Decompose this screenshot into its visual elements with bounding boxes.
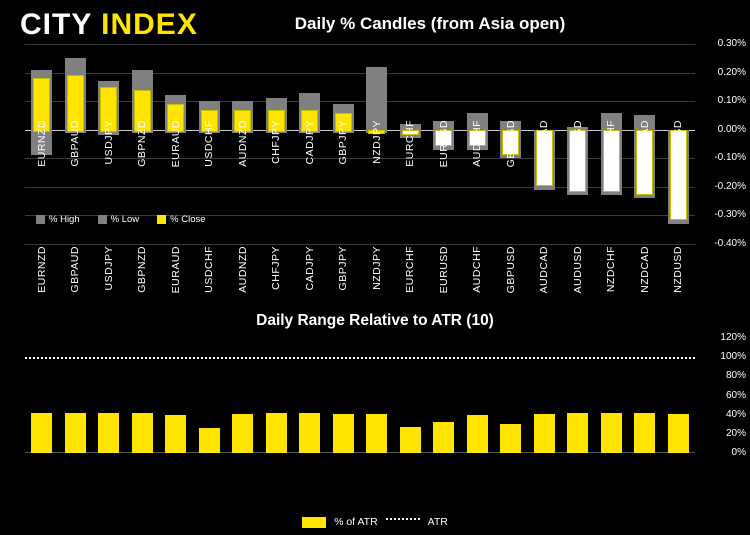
legend-close-swatch-icon: [157, 215, 166, 224]
chart1-category-label: AUDNZD: [237, 246, 249, 293]
chart2-category-label: AUDCHF: [471, 120, 483, 167]
chart2-atr-bar: [266, 413, 287, 453]
chart1-category-label: EURCHF: [404, 246, 416, 293]
chart1-category-label: GBPUSD: [505, 246, 517, 293]
chart2-atr-bar: [366, 414, 387, 453]
chart2-category-label: NZDJPY: [371, 120, 383, 164]
chart2-y-tick-label: 120%: [691, 332, 746, 343]
chart2-atr-bar: [299, 413, 320, 453]
legend-atr-line-icon: [386, 518, 420, 520]
chart1-category-label: NZDJPY: [371, 246, 383, 290]
chart2: [0, 338, 750, 468]
chart2-atr-bar: [400, 427, 421, 453]
chart1-category-label: GBPJPY: [337, 246, 349, 290]
chart1-category-label: AUDCHF: [471, 246, 483, 293]
chart1-y-tick-label: 0.10%: [691, 95, 746, 106]
chart2-category-label: USDJPY: [103, 120, 115, 164]
legend-high-label: % High: [49, 214, 80, 225]
chart1-category-label: AUDCAD: [538, 246, 550, 293]
chart2-category-label: AUDCAD: [538, 120, 550, 167]
chart2-atr-bar: [232, 414, 253, 453]
chart2-atr-bar: [634, 413, 655, 453]
chart2-x-axis-labels: EURNZDGBPAUDUSDJPYGBPNZDEURAUDUSDCHFAUDN…: [25, 120, 695, 182]
chart2-category-label: USDCHF: [203, 120, 215, 167]
chart2-atr-reference-line: [25, 357, 695, 359]
legend-low-swatch-icon: [98, 215, 107, 224]
chart1-gridline: [25, 244, 695, 245]
chart1-category-label: NZDCAD: [639, 246, 651, 293]
chart2-atr-bar: [65, 413, 86, 453]
chart2-atr-bar: [199, 428, 220, 453]
legend-atr-label: ATR: [428, 516, 448, 528]
chart2-atr-bar: [668, 414, 689, 453]
chart2-y-tick-label: 20%: [691, 428, 746, 439]
chart2-atr-bar: [333, 414, 354, 453]
brand-first-word: CITY: [20, 8, 92, 41]
chart2-category-label: GBPJPY: [337, 120, 349, 164]
chart1-category-label: EURUSD: [438, 246, 450, 293]
chart2-category-label: CADJPY: [304, 120, 316, 164]
chart1-category-label: GBPAUD: [69, 246, 81, 293]
chart1-y-tick-label: 0.00%: [691, 124, 746, 135]
chart1-category-label: AUDUSD: [572, 246, 584, 293]
chart1-category-label: USDJPY: [103, 246, 115, 290]
chart1-category-label: NZDUSD: [672, 246, 684, 293]
chart2-category-label: EURCHF: [404, 120, 416, 167]
chart2-atr-bar: [165, 415, 186, 453]
legend-close-label: % Close: [170, 214, 205, 225]
chart-page: CITY INDEX Daily % Candles (from Asia op…: [0, 0, 750, 535]
chart2-atr-bar: [98, 413, 119, 453]
chart1-y-tick-label: -0.30%: [691, 209, 746, 220]
chart2-atr-bar: [433, 422, 454, 453]
chart1-y-tick-label: 0.20%: [691, 67, 746, 78]
chart2-atr-bar: [500, 424, 521, 453]
chart2-y-tick-label: 100%: [691, 351, 746, 362]
chart1-y-tick-label: -0.40%: [691, 238, 746, 249]
chart2-y-tick-label: 60%: [691, 390, 746, 401]
chart1-x-axis-labels: EURNZDGBPAUDUSDJPYGBPNZDEURAUDUSDCHFAUDN…: [25, 246, 695, 308]
chart2-y-tick-label: 80%: [691, 370, 746, 381]
chart1-legend: % High % Low % Close: [36, 214, 206, 225]
chart2-category-label: GBPUSD: [505, 120, 517, 167]
chart2-category-label: GBPAUD: [69, 120, 81, 167]
chart1-category-label: EURAUD: [170, 246, 182, 293]
chart1-y-tick-label: -0.10%: [691, 152, 746, 163]
chart2-title: Daily Range Relative to ATR (10): [185, 312, 565, 330]
chart2-atr-bar: [534, 414, 555, 453]
legend-low-label: % Low: [111, 214, 140, 225]
chart1-y-tick-label: -0.20%: [691, 181, 746, 192]
legend-high-swatch-icon: [36, 215, 45, 224]
chart2-legend: % of ATR ATR: [0, 516, 750, 528]
chart2-category-label: GBPNZD: [136, 120, 148, 167]
chart2-atr-bar: [567, 413, 588, 453]
chart1-y-tick-label: 0.30%: [691, 38, 746, 49]
legend-pct-atr-swatch-icon: [302, 517, 326, 528]
chart2-category-label: NZDCAD: [639, 120, 651, 167]
chart2-y-tick-label: 40%: [691, 409, 746, 420]
chart2-baseline: [25, 452, 695, 453]
chart2-y-tick-label: 0%: [691, 447, 746, 458]
chart2-category-label: CHFJPY: [270, 120, 282, 164]
chart2-category-label: EURUSD: [438, 120, 450, 167]
legend-pct-atr-label: % of ATR: [334, 516, 378, 528]
chart1-category-label: CADJPY: [304, 246, 316, 290]
chart1-category-label: EURNZD: [36, 246, 48, 293]
chart2-category-label: EURAUD: [170, 120, 182, 167]
brand-logo: CITY INDEX: [20, 8, 198, 42]
chart1-category-label: GBPNZD: [136, 246, 148, 293]
chart1-category-label: NZDCHF: [605, 246, 617, 292]
chart2-atr-bar: [601, 413, 622, 453]
chart2-atr-bar: [467, 415, 488, 453]
chart2-atr-bar: [132, 413, 153, 453]
chart2-category-label: AUDNZD: [237, 120, 249, 167]
chart2-atr-bar: [31, 413, 52, 453]
chart1-title: Daily % Candles (from Asia open): [240, 14, 620, 34]
chart2-category-label: NZDCHF: [605, 120, 617, 166]
chart1-category-label: CHFJPY: [270, 246, 282, 290]
chart2-plot-area: [25, 338, 695, 453]
brand-second-word: INDEX: [101, 8, 198, 41]
chart2-category-label: EURNZD: [36, 120, 48, 167]
chart2-category-label: AUDUSD: [572, 120, 584, 167]
chart1-category-label: USDCHF: [203, 246, 215, 293]
chart2-category-label: NZDUSD: [672, 120, 684, 167]
